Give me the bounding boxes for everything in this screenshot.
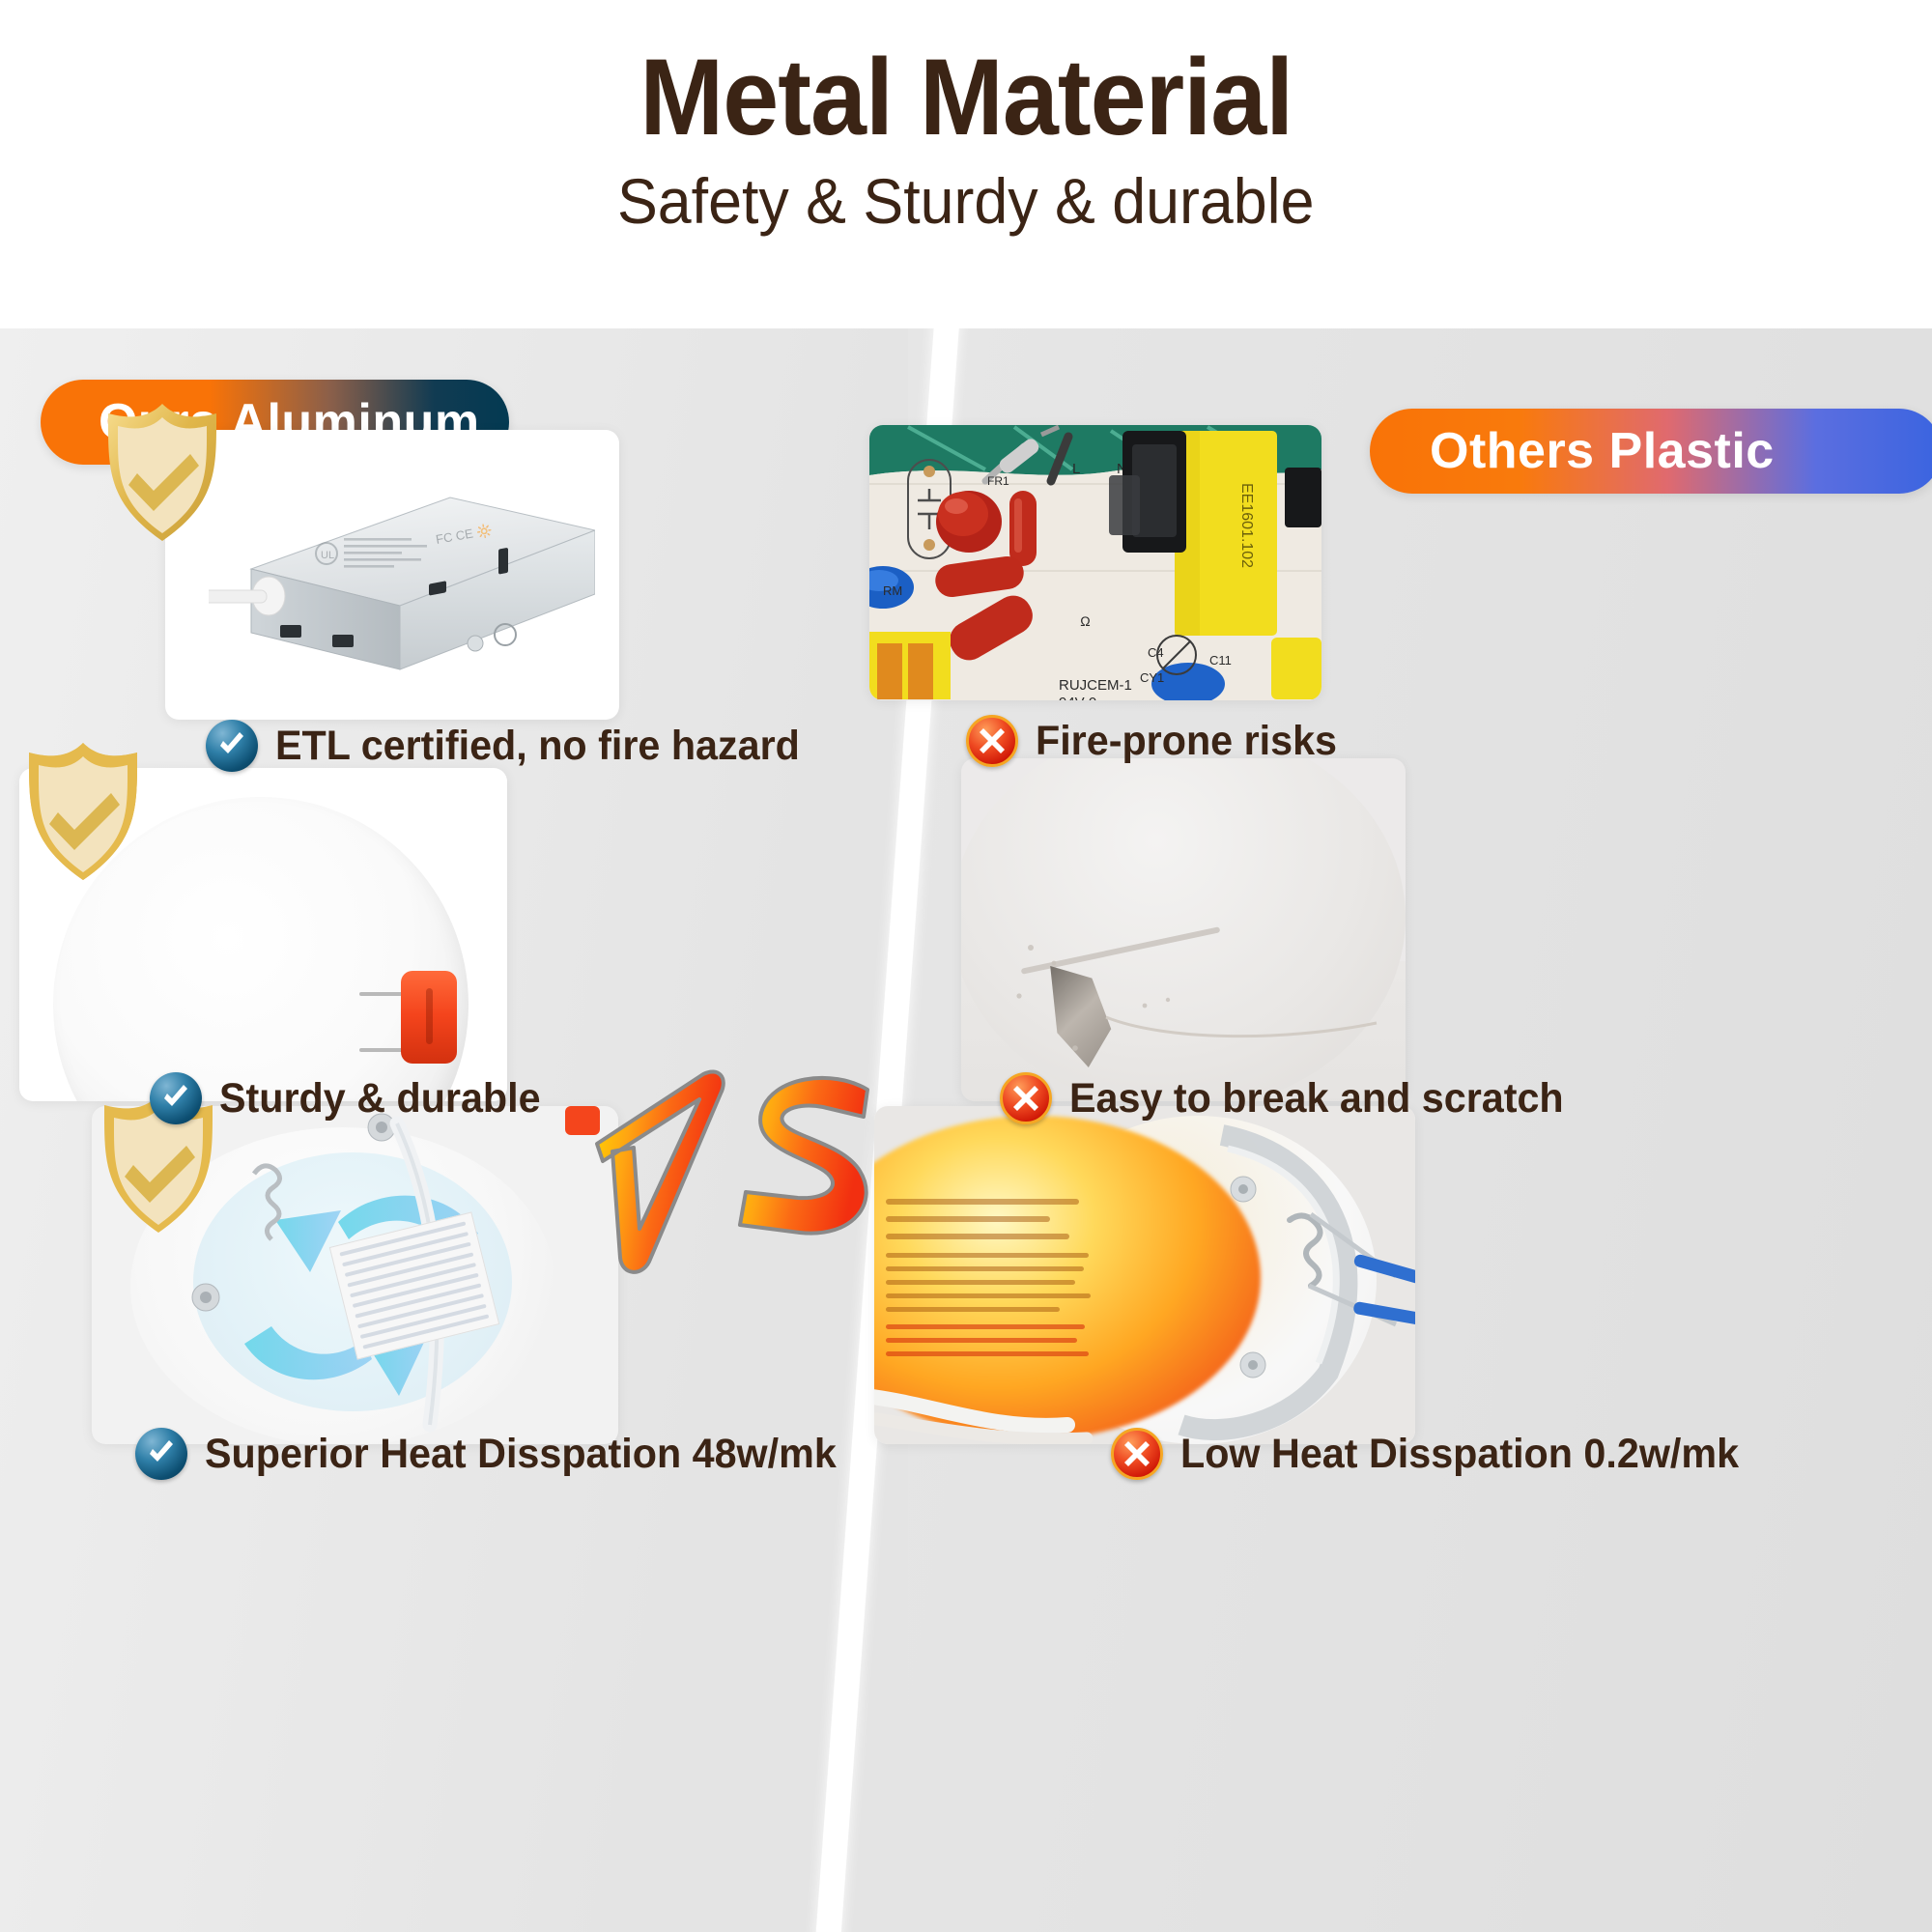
page-title: Metal Material <box>639 41 1293 155</box>
check-circle-icon <box>135 1428 187 1480</box>
pcb-label-l: L <box>1072 461 1080 477</box>
pcb-label-mark: Ω <box>1080 613 1091 629</box>
orange-mounting-clip <box>401 971 457 1064</box>
pcb-label-fr1: FR1 <box>987 474 1009 488</box>
caption-row-fire-risk: Fire-prone risks <box>966 715 1350 767</box>
caption-text: Low Heat Disspation 0.2w/mk <box>1180 1431 1739 1478</box>
pcb-label-c11: C11 <box>1209 653 1232 668</box>
caption-row-etl: ETL certified, no fire hazard <box>206 720 822 772</box>
caption-row-break-scratch: Easy to break and scratch <box>1000 1072 1584 1124</box>
x-circle-icon <box>1111 1428 1163 1480</box>
pcb-label-c4: C4 <box>1148 645 1164 660</box>
caption-row-heat-dissipation: Superior Heat Disspation 48w/mk <box>135 1428 863 1480</box>
image-card-metal-driver: UL FC CE 🔆 <box>165 430 619 720</box>
gold-shield-check-icon <box>21 739 145 884</box>
caption-row-low-heat-dissipation: Low Heat Disspation 0.2w/mk <box>1111 1428 1762 1480</box>
scratch-marks <box>961 758 1406 1101</box>
page-subtitle: Safety & Sturdy & durable <box>617 166 1314 237</box>
caption-text: ETL certified, no fire hazard <box>275 723 800 770</box>
pill-others-plastic[interactable]: Others Plastic <box>1370 409 1932 494</box>
x-circle-icon <box>1000 1072 1052 1124</box>
pill-others-label: Others Plastic <box>1430 422 1775 480</box>
gold-shield-check-icon <box>100 400 224 545</box>
caption-row-sturdy: Sturdy & durable <box>150 1072 554 1124</box>
check-circle-icon <box>150 1072 202 1124</box>
image-card-overheating <box>874 1106 1415 1444</box>
image-card-cracked-plastic <box>961 758 1406 1101</box>
pcb-label-line1: RUJCEM-1 <box>1059 677 1132 694</box>
overheating-detail <box>874 1106 1415 1444</box>
pcb-label-transformer: EE1601.102 <box>1238 483 1255 568</box>
pcb-label-line2: 94V-0 <box>1059 695 1096 700</box>
caption-text: Easy to break and scratch <box>1069 1075 1564 1122</box>
comparison-panel: Ours Aluminum Others Plastic <box>0 328 1932 1932</box>
header: Metal Material Safety & Sturdy & durable <box>0 0 1932 328</box>
caption-text: Superior Heat Disspation 48w/mk <box>205 1431 837 1478</box>
pcb-label-cy1: CY1 <box>1140 670 1164 685</box>
x-circle-icon <box>966 715 1018 767</box>
infographic-page: Metal Material Safety & Sturdy & durable… <box>0 0 1932 1932</box>
metal-driver-box-illustration: UL FC CE 🔆 <box>209 480 595 678</box>
vs-logo <box>591 1063 881 1285</box>
pcb-photo-illustration: FR1 L N EE1601.102 <box>869 425 1321 700</box>
check-circle-icon <box>206 720 258 772</box>
pcb-label-rm: RM <box>883 583 902 598</box>
caption-text: Sturdy & durable <box>219 1075 541 1122</box>
svg-text:UL: UL <box>321 550 334 561</box>
image-card-plastic-pcb: FR1 L N EE1601.102 <box>869 425 1321 700</box>
caption-text: Fire-prone risks <box>1036 718 1337 765</box>
